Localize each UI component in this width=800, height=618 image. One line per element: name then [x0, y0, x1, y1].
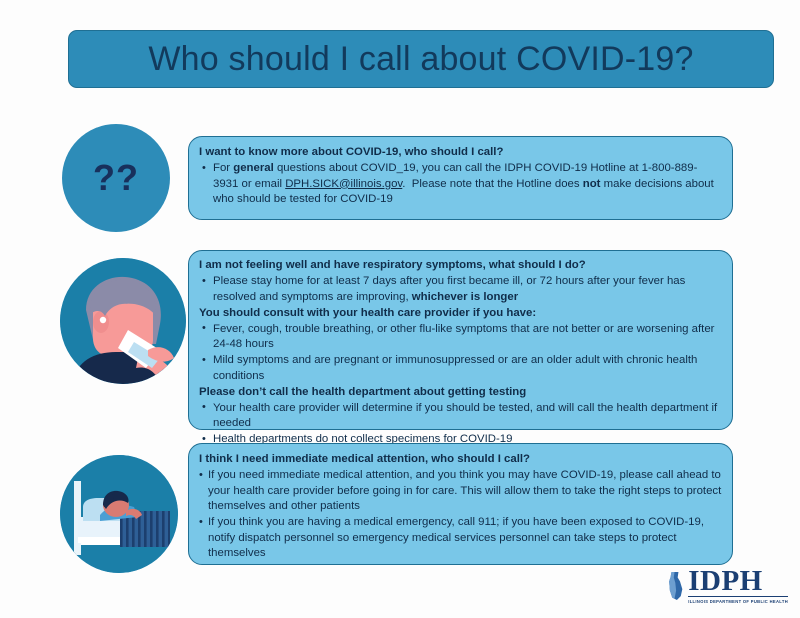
panel-subheading-consult: You should consult with your health care…: [199, 306, 722, 321]
idph-logo-text: IDPH ILLINOIS DEPARTMENT OF PUBLIC HEALT…: [688, 568, 788, 604]
list-item: If you need immediate medical attention,…: [199, 468, 722, 515]
idph-logo-acronym: IDPH: [688, 568, 788, 596]
idph-logo-subtitle: ILLINOIS DEPARTMENT OF PUBLIC HEALTH: [688, 599, 788, 604]
list-item: Fever, cough, trouble breathing, or othe…: [199, 322, 722, 353]
bullet-list-consult: Fever, cough, trouble breathing, or othe…: [199, 322, 722, 385]
idph-logo-rule: [688, 596, 788, 597]
panel-heading: I think I need immediate medical attenti…: [199, 452, 722, 467]
emphasis-general: general: [233, 162, 274, 174]
person-in-bed-illustration: [60, 455, 178, 573]
panel-general-questions: I want to know more about COVID-19, who …: [188, 136, 733, 220]
panel-immediate-attention: I think I need immediate medical attenti…: [188, 443, 733, 565]
list-item: If you think you are having a medical em…: [199, 515, 722, 562]
sick-person-icon: [60, 258, 186, 384]
bullet-list-testing: Your health care provider will determine…: [199, 401, 722, 448]
page-title: Who should I call about COVID-19?: [148, 42, 693, 76]
illinois-state-shape-icon: [666, 566, 686, 606]
list-item: For general questions about COVID_19, yo…: [199, 161, 722, 208]
list-item: Mild symptoms and are pregnant or immuno…: [199, 353, 722, 384]
page-title-banner: Who should I call about COVID-19?: [68, 30, 774, 88]
panel-heading: I want to know more about COVID-19, who …: [199, 145, 722, 160]
bullet-list-stay-home: Please stay home for at least 7 days aft…: [199, 274, 722, 305]
question-marks-glyph: ??: [93, 160, 139, 196]
emphasis-not: not: [583, 178, 601, 190]
panel-respiratory-symptoms: I am not feeling well and have respirato…: [188, 250, 733, 430]
bullet-list: For general questions about COVID_19, yo…: [199, 161, 722, 208]
panel-subheading-dont-call: Please don’t call the health department …: [199, 385, 722, 400]
question-marks-icon: ??: [62, 124, 170, 232]
list-item: Your health care provider will determine…: [199, 401, 722, 432]
panel-heading: I am not feeling well and have respirato…: [199, 258, 722, 273]
scanned-page: Who should I call about COVID-19? ?? I w…: [0, 0, 800, 618]
email-link[interactable]: DPH.SICK@illinois.gov: [285, 178, 402, 190]
list-item: Please stay home for at least 7 days aft…: [199, 274, 722, 305]
emphasis-whichever-longer: whichever is longer: [412, 291, 518, 303]
sick-person-illustration: [60, 258, 186, 384]
person-in-bed-icon: [60, 455, 178, 573]
idph-logo: IDPH ILLINOIS DEPARTMENT OF PUBLIC HEALT…: [666, 562, 788, 610]
bullet-list-emergency: If you need immediate medical attention,…: [199, 468, 722, 562]
